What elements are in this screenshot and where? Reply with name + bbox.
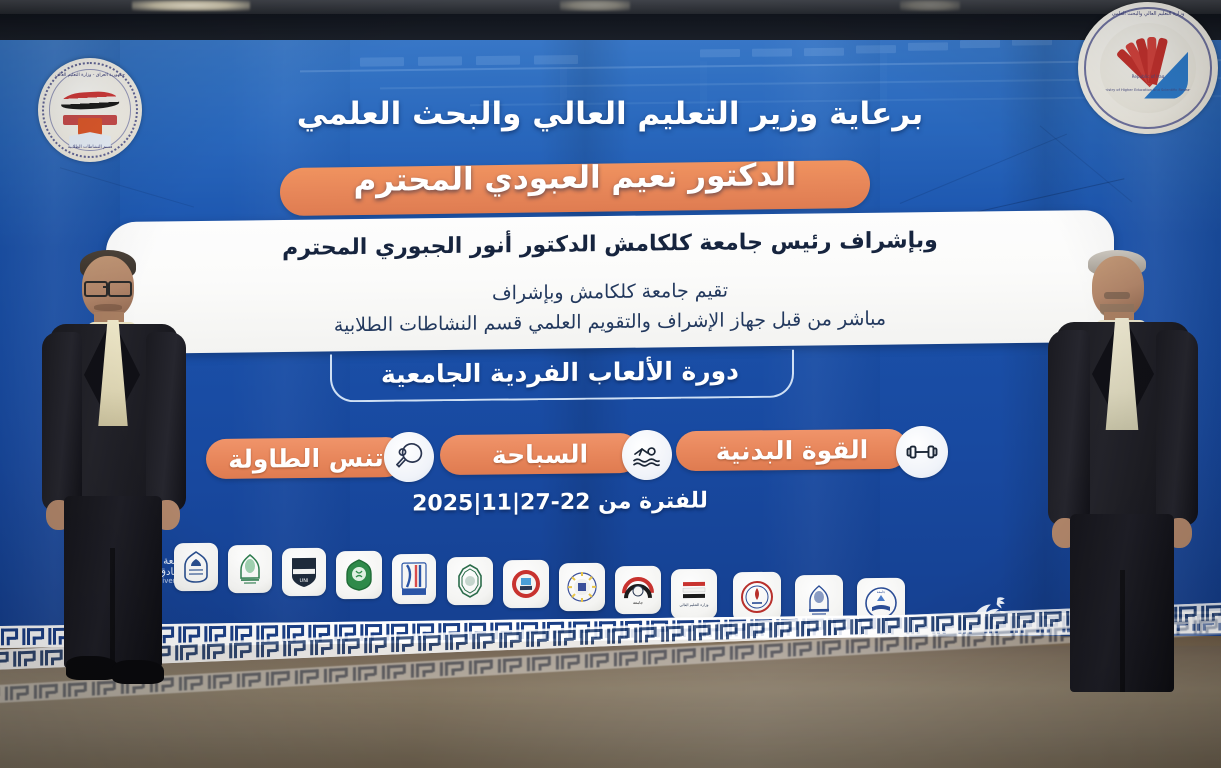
event-title-text: دورة الألعاب الفردية الجامعية — [320, 355, 800, 389]
logo-tile-5 — [392, 554, 436, 605]
svg-text:جامعة: جامعة — [877, 590, 885, 594]
logo-tile-6 — [447, 557, 493, 606]
svg-text:وزارة التعليم العالي: وزارة التعليم العالي — [680, 603, 709, 607]
logo-tile-11 — [733, 572, 781, 623]
logo-tile-7 — [503, 560, 549, 609]
logo-tile-3: UNI — [282, 548, 326, 597]
svg-text:جامعة: جامعة — [633, 600, 643, 605]
swimmer-icon — [622, 430, 672, 481]
photo-scene: جمهورية العراق - وزارة التعليم العالي قس… — [0, 0, 1221, 768]
logo-tile-10: وزارة التعليم العالي — [671, 569, 717, 620]
dumbbell-icon — [896, 426, 948, 479]
logo-tile-2 — [228, 545, 272, 594]
person-right — [1042, 250, 1218, 702]
logo-tile-4 — [336, 551, 382, 600]
svg-text:UNI: UNI — [300, 578, 309, 584]
logo-tile-8 — [559, 563, 605, 612]
logo-tile-9: جامعة — [615, 566, 661, 615]
table-tennis-icon — [384, 432, 434, 483]
person-left — [32, 248, 222, 698]
